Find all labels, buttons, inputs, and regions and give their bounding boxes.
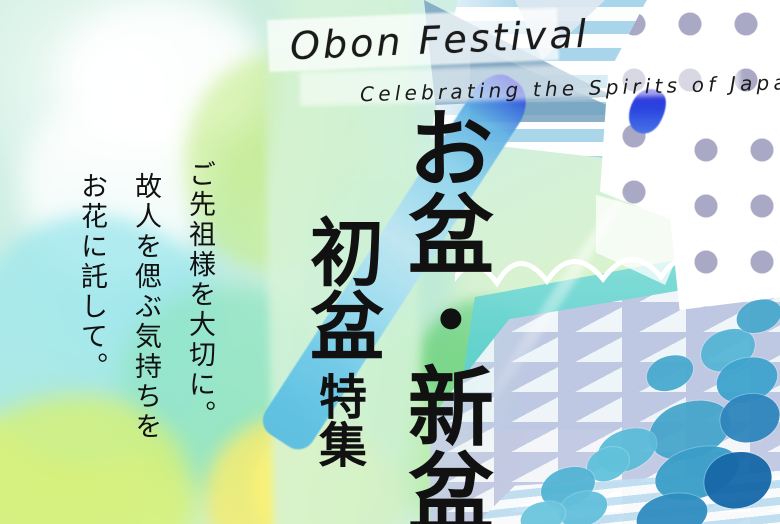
stone-blob bbox=[732, 293, 780, 339]
stone-blob bbox=[711, 349, 780, 410]
wash-white-top-left bbox=[60, 0, 270, 150]
english-title: Obon Festival bbox=[289, 12, 590, 68]
stone-blob bbox=[641, 348, 698, 398]
headline-main-obon-niibon: お盆・新盆・ bbox=[400, 104, 483, 524]
stone-blob bbox=[581, 440, 635, 488]
stone-blob bbox=[554, 484, 613, 524]
stone-blob bbox=[648, 436, 745, 510]
stone-blob bbox=[698, 444, 779, 517]
lede-line-1: ご先祖様を大切に。 bbox=[180, 160, 219, 430]
stone-blob bbox=[641, 389, 739, 470]
lede-line-3: お花に託して。 bbox=[72, 172, 111, 382]
stone-blob bbox=[632, 486, 713, 524]
obon-festival-banner: Obon Festival Celebrating the Spirits of… bbox=[0, 0, 780, 524]
white-wedge bbox=[596, 195, 692, 285]
brush-stroke-highlight bbox=[475, 192, 628, 418]
wash-yellowgreen-bottom bbox=[0, 395, 195, 524]
stone-blob bbox=[535, 459, 601, 515]
english-subtitle: Celebrating the Spirits of Japan bbox=[360, 70, 780, 106]
polka-dot-panel bbox=[600, 0, 780, 270]
scalloped-arch-border bbox=[455, 243, 780, 291]
lede-line-2: 故人を偲ぶ気持ちを bbox=[126, 172, 165, 442]
stone-blob bbox=[694, 320, 761, 379]
headline-hatsubon: 初盆 bbox=[304, 214, 377, 362]
teal-block bbox=[455, 240, 780, 430]
stone-blob bbox=[715, 387, 780, 450]
wash-yellow-bottom-center bbox=[205, 415, 395, 524]
stone-blob bbox=[516, 496, 569, 524]
bottom-stripe-strip bbox=[470, 470, 780, 524]
headline-tokushu-feature: 特集 bbox=[314, 372, 362, 468]
stone-blob bbox=[591, 419, 664, 481]
polka-dot-panel-lower bbox=[660, 120, 780, 310]
